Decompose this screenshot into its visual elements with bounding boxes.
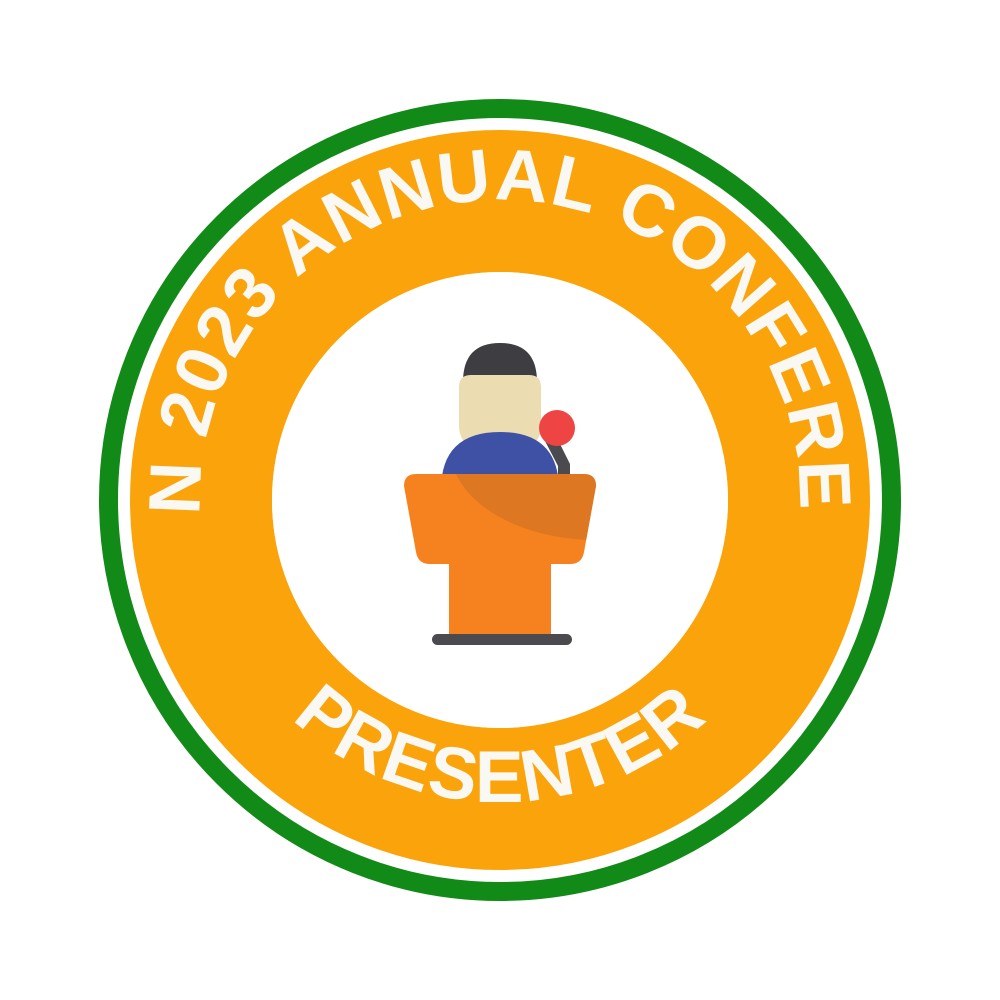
- microphone-head-icon: [539, 410, 575, 446]
- badge-graphic: EDEN 2023 ANNUAL CONFERENCE PRESENTER: [0, 0, 1000, 1000]
- badge-root: EDEN 2023 ANNUAL CONFERENCE PRESENTER: [0, 0, 1000, 1000]
- podium-base: [432, 634, 572, 645]
